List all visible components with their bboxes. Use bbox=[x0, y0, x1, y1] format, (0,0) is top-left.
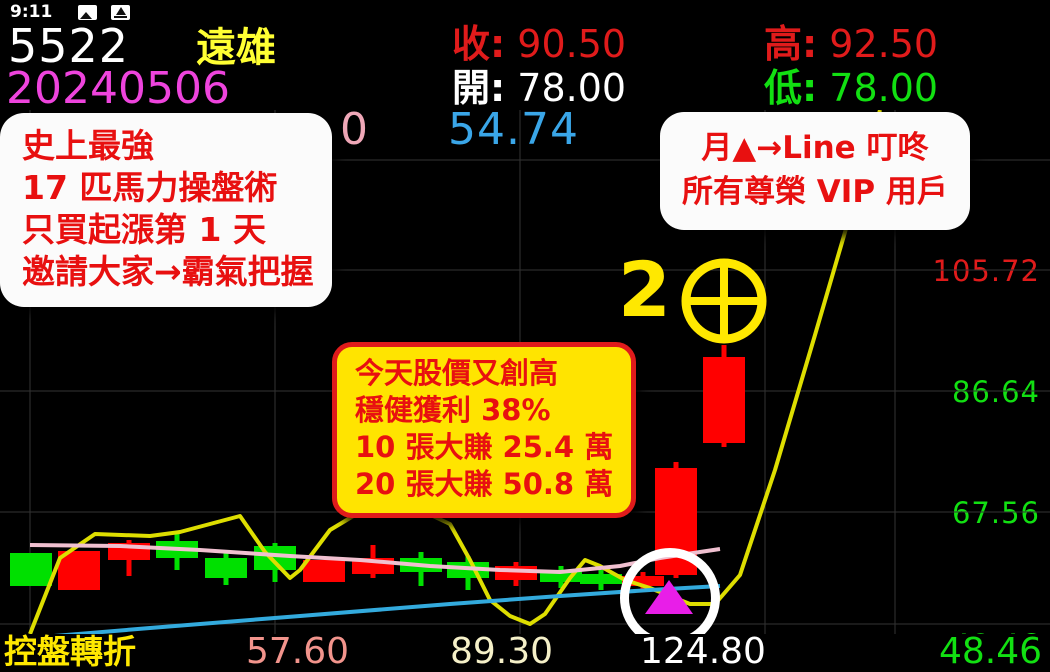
callout-top-right: 月▲→Line 叮咚 所有尊榮 VIP 用戶 bbox=[660, 112, 970, 230]
callout-middle-line-1: 今天股價又創高 bbox=[355, 355, 613, 392]
quote-close: 收: 90.50 bbox=[452, 22, 626, 66]
bottom-indicator-bar: 控盤轉折 57.60 89.30 124.80 48.46 bbox=[0, 634, 1050, 672]
quote-low-value: 78.00 bbox=[829, 66, 938, 110]
partial-quote-digit: 0 bbox=[340, 104, 368, 155]
status-clock: 9:11 bbox=[10, 2, 52, 22]
callout-top-right-line-2: 所有尊榮 VIP 用戶 bbox=[682, 170, 948, 214]
crosshair-circle-icon bbox=[680, 257, 768, 345]
callout-middle-line-3: 10 張大賺 25.4 萬 bbox=[355, 429, 613, 466]
status-bar: 9:11 bbox=[0, 0, 1050, 24]
indicator-value-3: 124.80 bbox=[640, 633, 766, 671]
indicator-value-2: 89.30 bbox=[450, 633, 553, 671]
magenta-triangle-icon bbox=[645, 580, 693, 614]
photo-icon bbox=[78, 5, 97, 20]
callout-middle-line-2: 穩健獲利 38% bbox=[355, 392, 613, 429]
quote-date: 20240506 bbox=[6, 66, 230, 112]
quote-open-value: 78.00 bbox=[517, 66, 626, 110]
quote-low-label: 低: bbox=[764, 66, 817, 110]
quote-close-value: 90.50 bbox=[517, 22, 626, 66]
callout-top-left-line-1: 史上最強 bbox=[22, 125, 314, 167]
status-notification-icons bbox=[78, 5, 130, 20]
series-MA-blue bbox=[30, 586, 720, 634]
callout-top-left-line-3: 只買起漲第 1 天 bbox=[22, 209, 314, 251]
quote-high-value: 92.50 bbox=[829, 22, 938, 66]
quote-close-label: 收: bbox=[452, 22, 505, 66]
indicator-value-1: 57.60 bbox=[246, 633, 349, 671]
signal-count-badge: 2 bbox=[618, 252, 671, 328]
callout-top-right-line-1: 月▲→Line 叮咚 bbox=[682, 126, 948, 170]
quote-high-label: 高: bbox=[764, 22, 817, 66]
indicator-value: 54.74 bbox=[448, 104, 579, 155]
app-icon bbox=[111, 5, 130, 20]
quote-header: 5522 遠雄 20240506 收: 90.50 高: 92.50 開: 78… bbox=[0, 24, 1050, 110]
quote-high: 高: 92.50 bbox=[764, 22, 938, 66]
quote-open-label: 開: bbox=[452, 66, 505, 110]
callout-top-left-line-4: 邀請大家→霸氣把握 bbox=[22, 251, 314, 293]
stock-chart-screen: 9:11 5522 遠雄 20240506 收: 90.50 高: 92.50 … bbox=[0, 0, 1050, 672]
indicator-value-4: 48.46 bbox=[939, 633, 1042, 671]
callout-middle-line-4: 20 張大賺 50.8 萬 bbox=[355, 466, 613, 503]
indicator-label: 控盤轉折 bbox=[4, 633, 136, 671]
callout-top-left: 史上最強 17 匹馬力操盤術 只買起漲第 1 天 邀請大家→霸氣把握 bbox=[0, 113, 332, 307]
callout-middle: 今天股價又創高 穩健獲利 38% 10 張大賺 25.4 萬 20 張大賺 50… bbox=[332, 342, 636, 518]
quote-open: 開: 78.00 bbox=[452, 66, 626, 110]
callout-top-left-line-2: 17 匹馬力操盤術 bbox=[22, 167, 314, 209]
quote-low: 低: 78.00 bbox=[764, 66, 938, 110]
